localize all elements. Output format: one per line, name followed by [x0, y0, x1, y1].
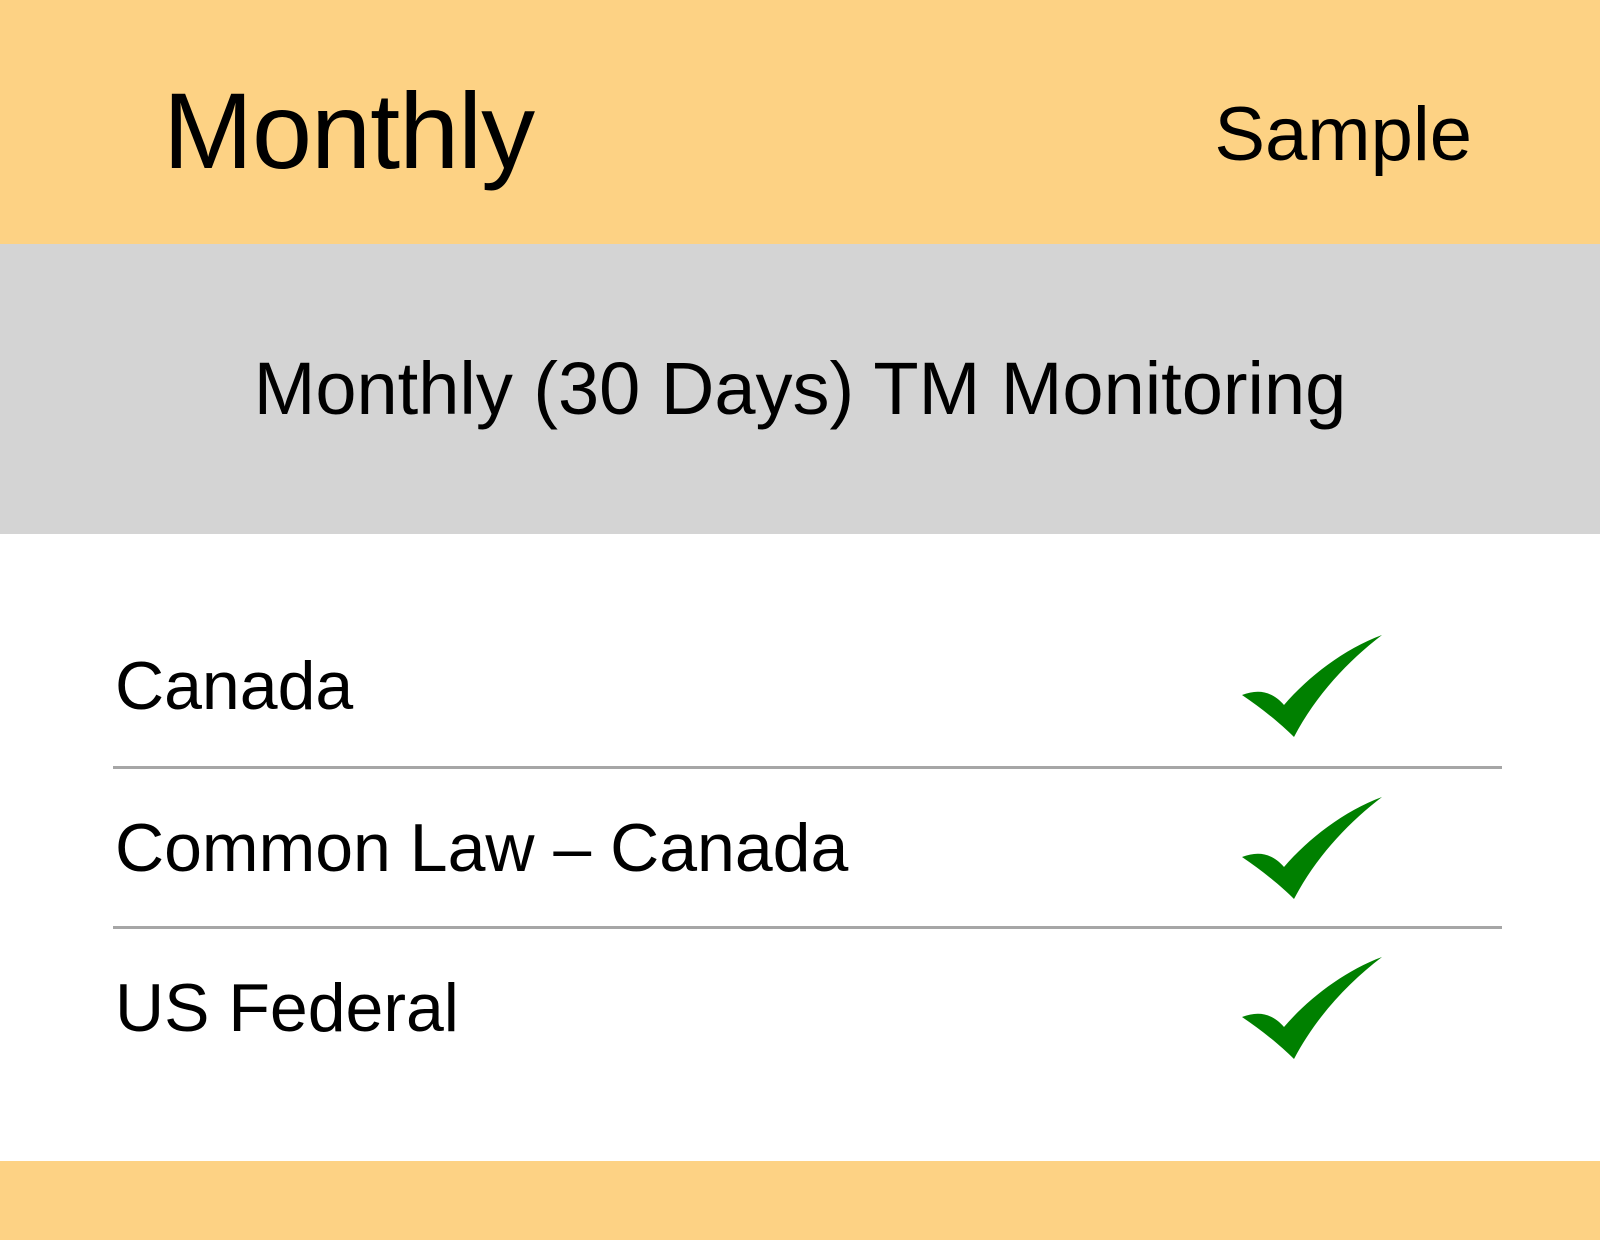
page-title: Monthly [163, 72, 534, 190]
list-item[interactable]: Canada [113, 606, 1502, 766]
pricing-tier-card: Monthly Sample Monthly (30 Days) TM Moni… [0, 0, 1600, 1240]
check-icon [1224, 626, 1392, 746]
jurisdiction-label: Common Law – Canada [113, 809, 848, 887]
footer-band [0, 1161, 1600, 1240]
sample-badge: Sample [1214, 92, 1472, 178]
jurisdiction-label: Canada [113, 647, 353, 725]
jurisdiction-list: Canada Common Law – Canada US Federal [113, 606, 1502, 1086]
content-area: Canada Common Law – Canada US Federal [0, 534, 1600, 1161]
subtitle-band: Monthly (30 Days) TM Monitoring [0, 244, 1600, 534]
check-icon [1224, 948, 1392, 1068]
plan-description: Monthly (30 Days) TM Monitoring [254, 346, 1347, 432]
jurisdiction-label: US Federal [113, 969, 459, 1047]
list-item[interactable]: US Federal [113, 926, 1502, 1086]
check-icon [1224, 788, 1392, 908]
header-band: Monthly Sample [0, 0, 1600, 244]
list-item[interactable]: Common Law – Canada [113, 766, 1502, 926]
